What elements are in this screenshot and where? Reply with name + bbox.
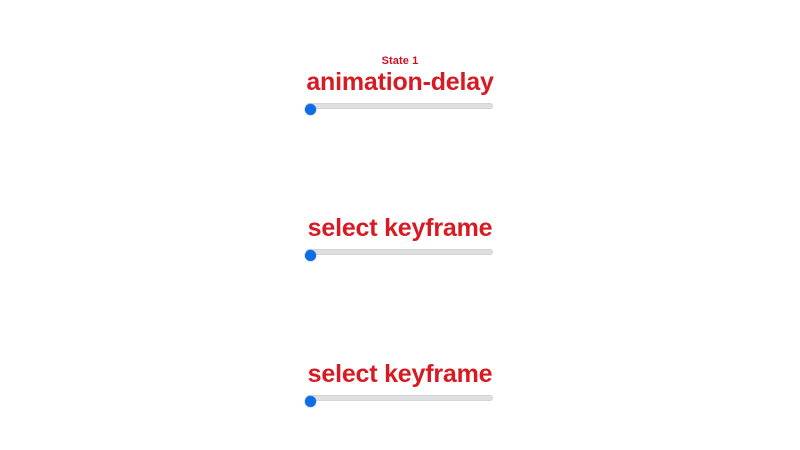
range-slider-track[interactable]	[306, 249, 493, 255]
slider-group-keyframe-2: select keyframe	[0, 347, 800, 405]
range-slider-track[interactable]	[306, 103, 493, 109]
slider-group-animation-delay: State 1 animation-delay	[0, 55, 800, 113]
range-slider-row	[0, 391, 800, 405]
slider-group-keyframe-1: select keyframe	[0, 201, 800, 259]
range-slider-thumb[interactable]	[305, 250, 316, 261]
range-slider-thumb[interactable]	[305, 396, 316, 407]
property-heading: select keyframe	[0, 214, 800, 242]
property-heading: select keyframe	[0, 360, 800, 388]
range-slider-row	[0, 99, 800, 113]
page-stage: State 1 animation-delay select keyframe …	[0, 0, 800, 450]
state-label: State 1	[0, 55, 800, 68]
range-slider-track[interactable]	[306, 395, 493, 401]
range-slider-thumb[interactable]	[305, 104, 316, 115]
property-heading: animation-delay	[0, 68, 800, 96]
range-slider-row	[0, 245, 800, 259]
